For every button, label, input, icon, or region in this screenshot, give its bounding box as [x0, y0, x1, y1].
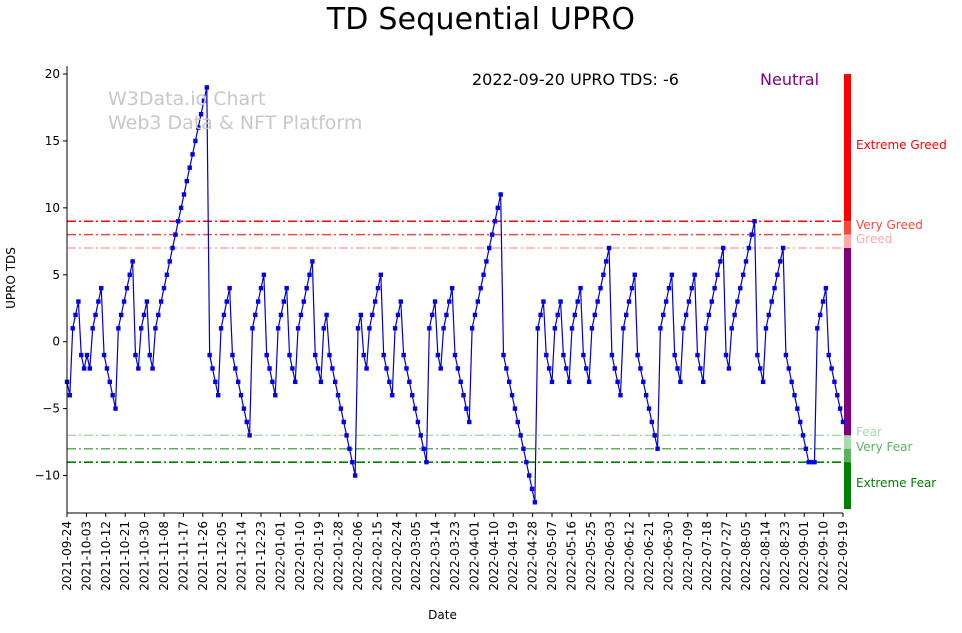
data-point-marker [470, 326, 474, 330]
data-point-marker [367, 326, 371, 330]
data-point-marker [795, 406, 799, 410]
data-point-marker [812, 460, 816, 464]
x-tick-label: 2022-04-01 [467, 521, 481, 591]
data-point-marker [710, 299, 714, 303]
data-point-marker [330, 366, 334, 370]
data-point-marker [530, 487, 534, 491]
zone-band-very-fear [844, 449, 851, 462]
current-reading-annotation: 2022-09-20 UPRO TDS: -6 [472, 70, 679, 89]
data-point-marker [185, 179, 189, 183]
data-point-marker [125, 286, 129, 290]
x-tick-label: 2022-07-27 [720, 521, 734, 591]
data-point-marker [724, 353, 728, 357]
data-point-marker [299, 313, 303, 317]
data-point-marker [276, 326, 280, 330]
zone-label-extreme-greed: Extreme Greed [856, 138, 947, 152]
data-point-marker [236, 380, 240, 384]
data-point-marker [481, 273, 485, 277]
x-tick-label: 2022-08-05 [739, 521, 753, 591]
data-point-marker [698, 366, 702, 370]
data-point-marker [524, 460, 528, 464]
data-point-marker [564, 366, 568, 370]
data-point-marker [176, 219, 180, 223]
data-point-marker [655, 447, 659, 451]
data-point-marker [68, 393, 72, 397]
data-point-marker [96, 299, 100, 303]
data-point-marker [265, 353, 269, 357]
data-point-marker [416, 420, 420, 424]
data-point-marker [744, 259, 748, 263]
zone-band-greed [844, 235, 851, 248]
data-point-marker [310, 259, 314, 263]
data-point-marker [108, 380, 112, 384]
data-point-marker [333, 380, 337, 384]
data-point-marker [687, 299, 691, 303]
x-tick-label: 2022-01-28 [332, 521, 346, 591]
data-point-marker [102, 353, 106, 357]
y-tick-label: −5 [42, 402, 60, 416]
data-point-marker [273, 393, 277, 397]
data-point-marker [165, 273, 169, 277]
data-point-marker [219, 326, 223, 330]
x-tick-label: 2022-06-12 [623, 521, 637, 591]
data-point-marker [533, 500, 537, 504]
data-point-marker [122, 299, 126, 303]
data-point-marker [384, 366, 388, 370]
y-tick-label: 0 [52, 335, 60, 349]
data-point-marker [624, 313, 628, 317]
data-point-marker [256, 299, 260, 303]
data-point-marker [518, 433, 522, 437]
x-tick-label: 2022-08-14 [758, 521, 772, 591]
data-point-marker [324, 313, 328, 317]
data-point-marker [473, 313, 477, 317]
x-tick-label: 2022-05-07 [545, 521, 559, 591]
data-point-marker [653, 433, 657, 437]
data-point-marker [478, 286, 482, 290]
data-point-marker [641, 380, 645, 384]
data-point-marker [787, 366, 791, 370]
data-point-marker [85, 353, 89, 357]
data-point-marker [262, 273, 266, 277]
data-point-marker [113, 406, 117, 410]
data-point-marker [732, 313, 736, 317]
series-line [67, 87, 843, 502]
data-point-marker [769, 299, 773, 303]
data-point-marker [570, 326, 574, 330]
x-tick-label: 2021-12-05 [215, 521, 229, 591]
y-tick-label: 5 [52, 268, 60, 282]
data-point-marker [259, 286, 263, 290]
data-point-marker [419, 433, 423, 437]
data-point-marker [407, 380, 411, 384]
data-point-marker [287, 353, 291, 357]
zone-band-neutral [844, 248, 851, 435]
data-point-marker [319, 380, 323, 384]
y-axis-label: UPRO TDS [4, 247, 18, 309]
data-point-marker [142, 313, 146, 317]
data-point-marker [436, 353, 440, 357]
x-tick-label: 2022-08-23 [778, 521, 792, 591]
data-point-marker [487, 246, 491, 250]
sentiment-state-annotation: Neutral [760, 70, 819, 89]
zone-band-extreme-greed [844, 74, 851, 221]
x-tick-label: 2022-01-19 [312, 521, 326, 591]
data-point-marker [393, 326, 397, 330]
data-point-marker [750, 232, 754, 236]
data-point-marker [73, 313, 77, 317]
data-point-marker [781, 246, 785, 250]
x-tick-label: 2022-07-09 [681, 521, 695, 591]
y-tick-label: 20 [45, 67, 60, 81]
data-point-marker [681, 326, 685, 330]
data-point-marker [242, 406, 246, 410]
data-point-marker [88, 366, 92, 370]
data-point-marker [513, 406, 517, 410]
x-tick-label: 2022-05-16 [564, 521, 578, 591]
data-point-marker [133, 353, 137, 357]
data-point-marker [90, 326, 94, 330]
data-point-marker [71, 326, 75, 330]
x-tick-label: 2021-10-03 [79, 521, 93, 591]
data-point-marker [601, 273, 605, 277]
data-point-marker [250, 326, 254, 330]
data-point-marker [433, 299, 437, 303]
data-point-marker [690, 286, 694, 290]
data-point-marker [362, 353, 366, 357]
data-point-marker [344, 433, 348, 437]
x-tick-label: 2021-10-30 [138, 521, 152, 591]
x-tick-label: 2022-09-10 [817, 521, 831, 591]
data-point-marker [390, 393, 394, 397]
data-point-marker [727, 366, 731, 370]
data-point-marker [290, 366, 294, 370]
data-point-marker [590, 326, 594, 330]
data-point-marker [79, 353, 83, 357]
data-point-marker [595, 299, 599, 303]
data-point-marker [684, 313, 688, 317]
data-point-marker [538, 313, 542, 317]
x-tick-label: 2021-11-17 [176, 521, 190, 591]
x-tick-label: 2021-10-21 [118, 521, 132, 591]
data-point-marker [421, 447, 425, 451]
data-point-marker [815, 326, 819, 330]
data-point-marker [558, 299, 562, 303]
data-point-marker [253, 313, 257, 317]
data-point-marker [573, 313, 577, 317]
data-point-marker [370, 313, 374, 317]
x-tick-label: 2022-04-28 [526, 521, 540, 591]
data-point-marker [444, 313, 448, 317]
data-point-marker [701, 380, 705, 384]
data-point-marker [247, 433, 251, 437]
data-point-marker [556, 313, 560, 317]
data-point-marker [270, 380, 274, 384]
data-point-marker [339, 406, 343, 410]
x-tick-label: 2021-11-26 [196, 521, 210, 591]
watermark-line-1: W3Data.io Chart [108, 88, 265, 110]
data-point-marker [841, 420, 845, 424]
data-point-marker [521, 447, 525, 451]
data-point-marker [635, 353, 639, 357]
data-point-marker [193, 139, 197, 143]
data-point-marker [621, 326, 625, 330]
x-tick-label: 2022-06-30 [661, 521, 675, 591]
data-point-marker [173, 232, 177, 236]
data-point-marker [664, 299, 668, 303]
data-point-marker [396, 313, 400, 317]
data-point-marker [136, 366, 140, 370]
data-point-marker [501, 353, 505, 357]
data-point-marker [613, 366, 617, 370]
data-point-marker [279, 313, 283, 317]
data-point-marker [99, 286, 103, 290]
data-point-marker [399, 299, 403, 303]
data-point-marker [316, 366, 320, 370]
data-point-marker [695, 353, 699, 357]
zone-band-extreme-fear [844, 462, 851, 509]
data-point-marker [159, 299, 163, 303]
data-point-marker [550, 380, 554, 384]
data-point-marker [607, 246, 611, 250]
data-point-marker [644, 393, 648, 397]
x-tick-label: 2022-06-03 [603, 521, 617, 591]
x-tick-label: 2022-09-01 [797, 521, 811, 591]
data-point-marker [510, 393, 514, 397]
data-point-marker [128, 273, 132, 277]
data-point-marker [755, 353, 759, 357]
data-point-marker [798, 420, 802, 424]
data-point-marker [604, 259, 608, 263]
data-point-marker [413, 406, 417, 410]
data-point-marker [772, 286, 776, 290]
data-point-marker [578, 286, 582, 290]
data-point-marker [821, 299, 825, 303]
data-point-marker [379, 273, 383, 277]
data-point-marker [476, 299, 480, 303]
x-tick-label: 2022-01-01 [273, 521, 287, 591]
zone-label-fear: Fear [856, 425, 882, 439]
data-point-marker [130, 259, 134, 263]
data-point-marker [116, 326, 120, 330]
data-point-marker [498, 192, 502, 196]
data-point-marker [553, 326, 557, 330]
data-point-marker [233, 366, 237, 370]
data-point-marker [182, 192, 186, 196]
data-point-marker [752, 219, 756, 223]
data-point-marker [544, 353, 548, 357]
x-tick-label: 2022-03-14 [429, 521, 443, 591]
data-point-marker [467, 420, 471, 424]
data-point-marker [675, 366, 679, 370]
data-point-marker [493, 219, 497, 223]
x-tick-label: 2022-03-05 [409, 521, 423, 591]
x-tick-label: 2022-04-19 [506, 521, 520, 591]
data-point-marker [430, 313, 434, 317]
x-tick-label: 2021-10-12 [99, 521, 113, 591]
watermark-line-2: Web3 Data & NFT Platform [108, 112, 362, 134]
data-point-marker [630, 286, 634, 290]
data-point-marker [190, 152, 194, 156]
data-point-marker [567, 380, 571, 384]
data-point-marker [210, 366, 214, 370]
data-point-marker [424, 460, 428, 464]
data-point-marker [239, 393, 243, 397]
data-point-marker [302, 299, 306, 303]
data-point-marker [148, 353, 152, 357]
data-point-marker [650, 420, 654, 424]
data-point-marker [804, 447, 808, 451]
y-tick-label: −10 [35, 469, 60, 483]
data-point-marker [327, 353, 331, 357]
data-point-marker [387, 380, 391, 384]
data-point-marker [547, 366, 551, 370]
data-point-marker [672, 353, 676, 357]
data-point-marker [336, 393, 340, 397]
data-point-marker [213, 380, 217, 384]
data-point-marker [404, 366, 408, 370]
data-point-marker [692, 273, 696, 277]
data-point-marker [615, 380, 619, 384]
data-point-marker [633, 273, 637, 277]
data-point-marker [225, 299, 229, 303]
data-point-marker [829, 366, 833, 370]
data-point-marker [658, 326, 662, 330]
data-point-marker [427, 326, 431, 330]
data-point-marker [139, 326, 143, 330]
data-point-marker [767, 313, 771, 317]
data-point-marker [76, 299, 80, 303]
x-tick-label: 2022-02-06 [351, 521, 365, 591]
x-tick-label: 2022-03-23 [448, 521, 462, 591]
data-point-marker [541, 299, 545, 303]
data-point-marker [105, 366, 109, 370]
data-point-marker [450, 286, 454, 290]
data-point-marker [618, 393, 622, 397]
data-point-marker [581, 353, 585, 357]
data-point-marker [156, 313, 160, 317]
data-point-marker [661, 313, 665, 317]
data-point-marker [453, 353, 457, 357]
data-point-marker [561, 353, 565, 357]
data-point-marker [575, 299, 579, 303]
data-point-marker [461, 393, 465, 397]
data-point-marker [187, 166, 191, 170]
x-tick-label: 2021-09-24 [60, 521, 74, 591]
data-point-marker [775, 273, 779, 277]
data-point-marker [293, 380, 297, 384]
data-point-marker [353, 473, 357, 477]
data-point-marker [667, 286, 671, 290]
data-point-marker [464, 406, 468, 410]
zone-label-greed: Greed [856, 232, 892, 246]
data-point-marker [670, 273, 674, 277]
data-point-marker [504, 366, 508, 370]
data-point-marker [359, 313, 363, 317]
data-point-marker [93, 313, 97, 317]
zone-label-extreme-fear: Extreme Fear [856, 476, 936, 490]
x-tick-label: 2022-02-15 [370, 521, 384, 591]
data-point-marker [441, 326, 445, 330]
x-tick-label: 2021-11-08 [157, 521, 171, 591]
data-point-marker [715, 273, 719, 277]
data-point-marker [707, 313, 711, 317]
data-point-marker [490, 232, 494, 236]
data-point-marker [230, 353, 234, 357]
zone-label-very-greed: Very Greed [856, 218, 923, 232]
data-point-marker [284, 286, 288, 290]
data-point-marker [584, 366, 588, 370]
data-point-marker [150, 366, 154, 370]
data-point-marker [678, 380, 682, 384]
x-tick-label: 2022-02-24 [390, 521, 404, 591]
zone-label-very-fear: Very Fear [856, 440, 912, 454]
data-point-marker [712, 286, 716, 290]
y-tick-label: 10 [45, 201, 60, 215]
data-point-marker [484, 259, 488, 263]
data-point-marker [267, 366, 271, 370]
chart-page: TD Sequential UPRO −10−5051015202021-09-… [0, 0, 962, 633]
data-point-marker [82, 366, 86, 370]
data-point-marker [598, 286, 602, 290]
x-tick-label: 2021-12-14 [235, 521, 249, 591]
data-point-marker [792, 393, 796, 397]
data-point-marker [536, 326, 540, 330]
data-point-marker [507, 380, 511, 384]
y-tick-label: 15 [45, 134, 60, 148]
data-point-marker [758, 366, 762, 370]
x-axis-label: Date [0, 608, 885, 622]
data-point-marker [313, 353, 317, 357]
data-point-marker [119, 313, 123, 317]
zone-band-fear [844, 435, 851, 448]
data-point-marker [527, 473, 531, 477]
data-point-marker [638, 366, 642, 370]
data-point-marker [304, 286, 308, 290]
data-point-marker [179, 206, 183, 210]
data-point-marker [207, 353, 211, 357]
data-point-marker [718, 259, 722, 263]
x-tick-label: 2022-07-18 [700, 521, 714, 591]
data-point-marker [364, 366, 368, 370]
data-point-marker [610, 353, 614, 357]
data-point-marker [350, 460, 354, 464]
data-point-marker [824, 286, 828, 290]
data-point-marker [145, 299, 149, 303]
x-tick-label: 2022-01-10 [293, 521, 307, 591]
data-point-marker [381, 353, 385, 357]
data-point-marker [245, 420, 249, 424]
data-point-marker [447, 299, 451, 303]
data-point-marker [322, 326, 326, 330]
x-tick-label: 2022-04-10 [487, 521, 501, 591]
data-point-marker [647, 406, 651, 410]
data-point-marker [439, 366, 443, 370]
data-point-marker [401, 353, 405, 357]
data-point-marker [627, 299, 631, 303]
data-point-marker [168, 259, 172, 263]
data-point-marker [282, 299, 286, 303]
data-point-marker [373, 299, 377, 303]
data-point-marker [356, 326, 360, 330]
data-point-marker [496, 206, 500, 210]
data-point-marker [784, 353, 788, 357]
data-point-marker [835, 393, 839, 397]
data-point-marker [376, 286, 380, 290]
data-point-marker [704, 326, 708, 330]
data-point-marker [735, 299, 739, 303]
data-point-marker [162, 286, 166, 290]
